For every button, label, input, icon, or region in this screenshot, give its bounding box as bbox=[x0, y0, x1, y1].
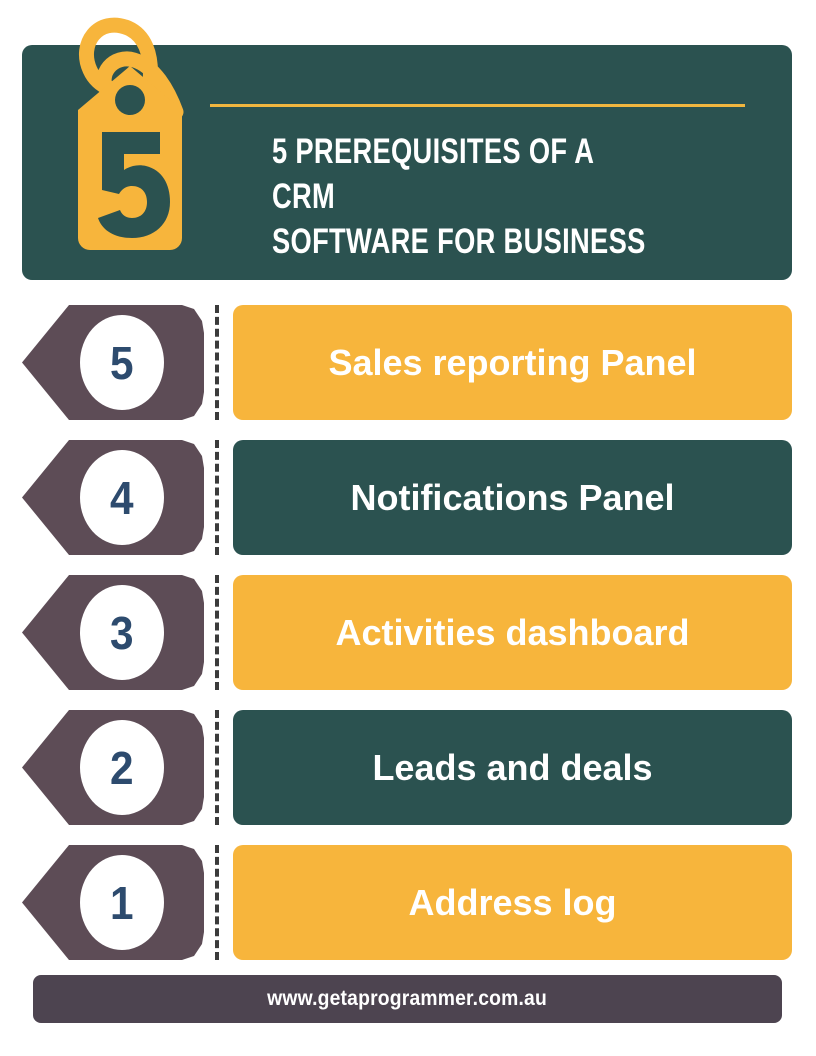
number-circle: 3 bbox=[80, 585, 164, 680]
number-circle: 5 bbox=[80, 315, 164, 410]
list-item[interactable]: 2 Leads and deals bbox=[0, 710, 816, 825]
dashed-divider bbox=[215, 710, 219, 825]
list-item[interactable]: 4 Notifications Panel bbox=[0, 440, 816, 555]
step-label-bar[interactable]: Leads and deals bbox=[233, 710, 792, 825]
price-tag-icon bbox=[68, 14, 196, 256]
footer-bar[interactable]: www.getaprogrammer.com.au bbox=[33, 975, 782, 1023]
step-label-bar[interactable]: Sales reporting Panel bbox=[233, 305, 792, 420]
step-number: 1 bbox=[110, 880, 134, 926]
list-item[interactable]: 5 Sales reporting Panel bbox=[0, 305, 816, 420]
step-number: 2 bbox=[110, 745, 134, 791]
step-badge[interactable]: 5 bbox=[22, 305, 204, 420]
step-label-bar[interactable]: Address log bbox=[233, 845, 792, 960]
step-number: 3 bbox=[110, 610, 134, 656]
step-label-bar[interactable]: Notifications Panel bbox=[233, 440, 792, 555]
step-number: 5 bbox=[110, 340, 134, 386]
dashed-divider bbox=[215, 440, 219, 555]
page-title: 5 PREREQUISITES OF A CRM SOFTWARE FOR BU… bbox=[272, 130, 662, 264]
step-badge[interactable]: 1 bbox=[22, 845, 204, 960]
step-label: Address log bbox=[408, 883, 616, 923]
step-label: Sales reporting Panel bbox=[328, 343, 696, 383]
list-item[interactable]: 3 Activities dashboard bbox=[0, 575, 816, 690]
number-circle: 2 bbox=[80, 720, 164, 815]
header-divider-rule bbox=[210, 104, 745, 107]
number-circle: 4 bbox=[80, 450, 164, 545]
step-label-bar[interactable]: Activities dashboard bbox=[233, 575, 792, 690]
step-label: Notifications Panel bbox=[350, 478, 674, 518]
step-label: Leads and deals bbox=[372, 748, 652, 788]
dashed-divider bbox=[215, 305, 219, 420]
dashed-divider bbox=[215, 845, 219, 960]
number-circle: 1 bbox=[80, 855, 164, 950]
step-badge[interactable]: 4 bbox=[22, 440, 204, 555]
list-item[interactable]: 1 Address log bbox=[0, 845, 816, 960]
dashed-divider bbox=[215, 575, 219, 690]
footer-url[interactable]: www.getaprogrammer.com.au bbox=[268, 987, 548, 1011]
step-label: Activities dashboard bbox=[335, 613, 689, 653]
step-badge[interactable]: 2 bbox=[22, 710, 204, 825]
step-badge[interactable]: 3 bbox=[22, 575, 204, 690]
infographic-page: 5 PREREQUISITES OF A CRM SOFTWARE FOR BU… bbox=[0, 0, 816, 1056]
step-number: 4 bbox=[110, 475, 134, 521]
list-rows: 5 Sales reporting Panel 4 Notifications … bbox=[0, 305, 816, 980]
